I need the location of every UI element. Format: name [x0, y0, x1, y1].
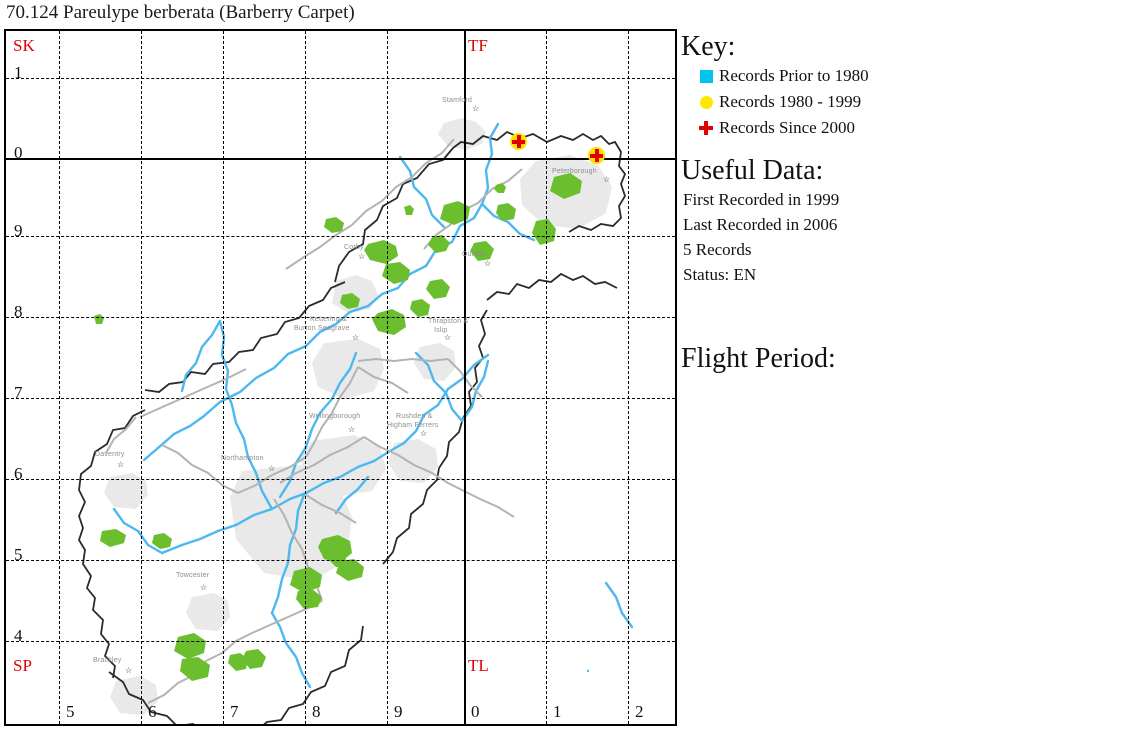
y-axis-tick: 0 [14, 143, 23, 163]
roads [106, 139, 522, 703]
town-label: Brackley [93, 657, 121, 664]
map-frame[interactable]: SK TF SP TL 1 0 9 8 7 6 5 4 5 6 7 8 9 0 … [4, 29, 677, 726]
town-star-icon: ☆ [603, 176, 610, 184]
gridline-vertical [59, 31, 60, 724]
x-axis-tick: 0 [471, 702, 480, 722]
x-axis-tick: 9 [394, 702, 403, 722]
town-label: Towcester [176, 572, 209, 579]
town-star-icon: ☆ [484, 260, 491, 268]
square-label-sp: SP [13, 656, 32, 676]
key-item-prior-1980: Records Prior to 1980 [693, 63, 1121, 89]
woodland [94, 173, 582, 681]
y-axis-tick: 1 [14, 63, 23, 83]
town-star-icon: ☆ [125, 667, 132, 675]
town-label: Kettering & [310, 316, 347, 323]
square-label-sk: SK [13, 36, 35, 56]
gridline-horizontal [6, 236, 675, 237]
map-artwork [6, 31, 675, 724]
x-axis-tick: 5 [66, 702, 75, 722]
town-label: Daventry [95, 451, 125, 458]
record-cross-vertical [517, 135, 521, 148]
gridline-vertical [546, 31, 547, 724]
gridline-horizontal [6, 398, 675, 399]
gridline-vertical [628, 31, 629, 724]
record-marker-since-2000[interactable] [510, 133, 527, 150]
town-label: Oundle [462, 251, 486, 258]
circle-yellow-icon [693, 96, 719, 109]
town-star-icon: ☆ [420, 430, 427, 438]
x-axis-tick: 2 [635, 702, 644, 722]
key-item-label: Records Since 2000 [719, 117, 855, 139]
y-axis-tick: 6 [14, 464, 23, 484]
square-label-tf: TF [468, 36, 488, 56]
page-title: 70.124 Pareulype berberata (Barberry Car… [6, 1, 355, 25]
town-label: Burton Seagrave [294, 325, 350, 332]
town-label: Northampton [221, 455, 264, 462]
x-axis-tick: 6 [148, 702, 157, 722]
town-label: Wellingborough [309, 413, 360, 420]
key-item-since-2000: Records Since 2000 [693, 115, 1121, 141]
town-label: Peterborough [552, 168, 597, 175]
key-item-label: Records Prior to 1980 [719, 65, 869, 87]
town-label: Rushden & [396, 413, 432, 420]
town-star-icon: ☆ [444, 334, 451, 342]
record-cross-vertical [595, 149, 599, 162]
square-label-tl: TL [468, 656, 489, 676]
x-axis-tick: 8 [312, 702, 321, 722]
town-star-icon: ☆ [358, 253, 365, 261]
gridline-vertical [305, 31, 306, 724]
gridline-vertical [387, 31, 388, 724]
town-star-icon: ☆ [352, 334, 359, 342]
town-star-icon: ☆ [268, 465, 275, 473]
map-canvas[interactable]: SK TF SP TL 1 0 9 8 7 6 5 4 5 6 7 8 9 0 … [6, 31, 675, 724]
town-star-icon: ☆ [472, 105, 479, 113]
gridline-vertical-major [464, 31, 466, 724]
gridline-vertical [141, 31, 142, 724]
first-recorded: First Recorded in 1999 [683, 187, 1121, 212]
square-cyan-icon [693, 70, 719, 83]
y-axis-tick: 8 [14, 302, 23, 322]
y-axis-tick: 5 [14, 545, 23, 565]
flight-period-heading: Flight Period: [681, 343, 1121, 375]
y-axis-tick: 9 [14, 221, 23, 241]
town-label: Thrapston & [428, 318, 468, 325]
town-label: Corby [344, 244, 364, 251]
record-marker-since-2000[interactable] [588, 147, 605, 164]
y-axis-tick: 7 [14, 383, 23, 403]
cross-red-icon [693, 121, 719, 135]
gridline-horizontal [6, 78, 675, 79]
useful-data-heading: Useful Data: [681, 155, 1121, 187]
x-axis-tick: 1 [553, 702, 562, 722]
info-panel: Key: Records Prior to 1980 Records 1980 … [681, 29, 1121, 726]
town-star-icon: ☆ [200, 584, 207, 592]
y-axis-tick: 4 [14, 626, 23, 646]
gridline-horizontal-major [6, 158, 675, 160]
gridline-horizontal [6, 560, 675, 561]
x-axis-tick: 7 [230, 702, 239, 722]
town-star-icon: ☆ [117, 461, 124, 469]
town-star-icon: ☆ [348, 426, 355, 434]
gridline-vertical [223, 31, 224, 724]
key-item-1980-1999: Records 1980 - 1999 [693, 89, 1121, 115]
town-label: Higham Ferrers [387, 422, 438, 429]
record-count: 5 Records [683, 237, 1121, 262]
status-text: Status: EN [683, 262, 1121, 287]
gridline-horizontal [6, 479, 675, 480]
key-item-label: Records 1980 - 1999 [719, 91, 861, 113]
gridline-horizontal [6, 641, 675, 642]
key-heading: Key: [681, 31, 1121, 63]
distribution-map-page: 70.124 Pareulype berberata (Barberry Car… [0, 0, 1124, 730]
last-recorded: Last Recorded in 2006 [683, 212, 1121, 237]
town-label: Stamford [442, 97, 472, 104]
